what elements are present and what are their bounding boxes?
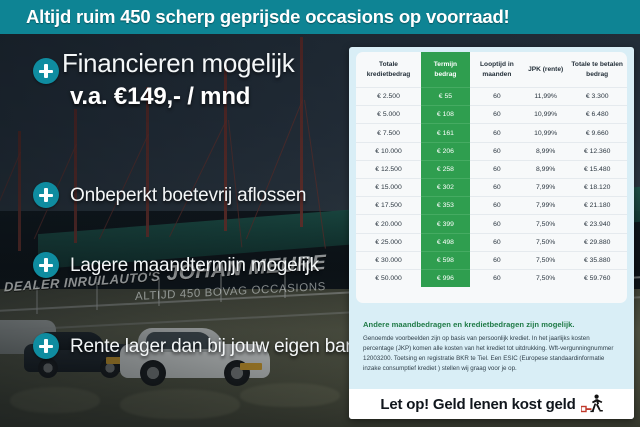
cell-apr: 7,99% <box>524 197 567 215</box>
cell-apr: 7,50% <box>524 269 567 287</box>
cell-apr: 8,99% <box>524 142 567 160</box>
cell-monthly-amount: € 353 <box>421 197 470 215</box>
cell-total-payable: € 29.880 <box>567 233 627 251</box>
cell-monthly-amount: € 598 <box>421 251 470 269</box>
promo-headline: Financieren mogelijk <box>62 48 294 79</box>
cell-apr: 11,99% <box>524 88 567 106</box>
table-header-row: Totale kredietbedrag Termijn bedrag Loop… <box>356 52 627 88</box>
cell-total-payable: € 15.480 <box>567 160 627 178</box>
cell-apr: 10,99% <box>524 106 567 124</box>
cell-duration: 60 <box>470 124 524 142</box>
cell-total-credit: € 20.000 <box>356 215 421 233</box>
table-row: € 20.000€ 399607,50%€ 23.940 <box>356 215 627 233</box>
cell-total-credit: € 10.000 <box>356 142 421 160</box>
banner-creative: DEALER INRUILAUTO'S JOHAN MEURE ALTIJD 4… <box>0 0 640 427</box>
cell-total-credit: € 15.000 <box>356 179 421 197</box>
top-banner: Altijd ruim 450 scherp geprijsde occasio… <box>0 0 640 34</box>
cell-total-payable: € 23.940 <box>567 215 627 233</box>
financing-card: Totale kredietbedrag Termijn bedrag Loop… <box>349 47 634 419</box>
warning-text: Let op! Geld lenen kost geld <box>380 396 575 413</box>
rates-table-body: € 2.500€ 556011,99%€ 3.300€ 5.000€ 10860… <box>356 88 627 288</box>
promo-subheadline: v.a. €149,- / mnd <box>70 83 250 111</box>
cell-monthly-amount: € 206 <box>421 142 470 160</box>
table-row: € 17.500€ 353607,99%€ 21.180 <box>356 197 627 215</box>
card-note-title: Andere maandbedragen en kredietbedragen … <box>363 320 621 329</box>
cell-apr: 7,50% <box>524 233 567 251</box>
promo-bullet-1: Onbeperkt boetevrij aflossen <box>70 185 306 207</box>
cell-duration: 60 <box>470 233 524 251</box>
cell-total-payable: € 12.360 <box>567 142 627 160</box>
cell-duration: 60 <box>470 142 524 160</box>
plus-circle-icon <box>33 333 59 359</box>
table-row: € 10.000€ 206608,99%€ 12.360 <box>356 142 627 160</box>
warning-bar: Let op! Geld lenen kost geld <box>349 389 634 419</box>
cell-total-payable: € 9.660 <box>567 124 627 142</box>
plus-circle-icon <box>33 58 59 84</box>
table-row: € 25.000€ 498607,50%€ 29.880 <box>356 233 627 251</box>
cell-duration: 60 <box>470 215 524 233</box>
cell-total-credit: € 25.000 <box>356 233 421 251</box>
table-row: € 5.000€ 1086010,99%€ 6.480 <box>356 106 627 124</box>
cell-total-payable: € 6.480 <box>567 106 627 124</box>
cell-total-credit: € 2.500 <box>356 88 421 106</box>
rates-table-container: Totale kredietbedrag Termijn bedrag Loop… <box>356 52 627 303</box>
column-header-monthly: Termijn bedrag <box>421 52 470 88</box>
cell-total-credit: € 5.000 <box>356 106 421 124</box>
cell-monthly-amount: € 399 <box>421 215 470 233</box>
card-note-body: Genoemde voorbeelden zijn op basis van p… <box>363 334 622 374</box>
cell-total-credit: € 7.500 <box>356 124 421 142</box>
cell-monthly-amount: € 498 <box>421 233 470 251</box>
table-row: € 2.500€ 556011,99%€ 3.300 <box>356 88 627 106</box>
cell-monthly-amount: € 996 <box>421 269 470 287</box>
cell-monthly-amount: € 258 <box>421 160 470 178</box>
cell-total-credit: € 12.500 <box>356 160 421 178</box>
cell-apr: 7,50% <box>524 215 567 233</box>
plus-circle-icon <box>33 252 59 278</box>
column-header-total-credit: Totale kredietbedrag <box>356 52 421 88</box>
cell-total-credit: € 30.000 <box>356 251 421 269</box>
cell-duration: 60 <box>470 179 524 197</box>
promo-bullet-3: Rente lager dan bij jouw eigen bank <box>70 336 365 358</box>
cell-total-payable: € 21.180 <box>567 197 627 215</box>
cell-apr: 7,50% <box>524 251 567 269</box>
cell-duration: 60 <box>470 160 524 178</box>
cell-monthly-amount: € 161 <box>421 124 470 142</box>
cell-monthly-amount: € 108 <box>421 106 470 124</box>
cell-apr: 7,99% <box>524 179 567 197</box>
cell-duration: 60 <box>470 251 524 269</box>
cell-apr: 10,99% <box>524 124 567 142</box>
cell-duration: 60 <box>470 197 524 215</box>
cell-total-payable: € 3.300 <box>567 88 627 106</box>
top-banner-headline: Altijd ruim 450 scherp geprijsde occasio… <box>0 6 510 28</box>
column-header-total-payable: Totale te betalen bedrag <box>567 52 627 88</box>
cell-duration: 60 <box>470 106 524 124</box>
table-row: € 30.000€ 598607,50%€ 35.880 <box>356 251 627 269</box>
cell-apr: 8,99% <box>524 160 567 178</box>
cell-duration: 60 <box>470 269 524 287</box>
table-row: € 15.000€ 302607,99%€ 18.120 <box>356 179 627 197</box>
cell-total-credit: € 17.500 <box>356 197 421 215</box>
cell-total-payable: € 35.880 <box>567 251 627 269</box>
rates-table: Totale kredietbedrag Termijn bedrag Loop… <box>356 52 627 287</box>
cell-total-payable: € 18.120 <box>567 179 627 197</box>
column-header-duration: Looptijd in maanden <box>470 52 524 88</box>
cell-monthly-amount: € 55 <box>421 88 470 106</box>
table-row: € 7.500€ 1616010,99%€ 9.660 <box>356 124 627 142</box>
running-man-icon <box>581 394 603 414</box>
column-header-apr: JPK (rente) <box>524 52 567 88</box>
table-row: € 12.500€ 258608,99%€ 15.480 <box>356 160 627 178</box>
promo-bullet-2: Lagere maandtermijn mogelijk <box>70 255 319 277</box>
plus-circle-icon <box>33 182 59 208</box>
table-row: € 50.000€ 996607,50%€ 59.760 <box>356 269 627 287</box>
cell-total-payable: € 59.760 <box>567 269 627 287</box>
cell-duration: 60 <box>470 88 524 106</box>
cell-total-credit: € 50.000 <box>356 269 421 287</box>
cell-monthly-amount: € 302 <box>421 179 470 197</box>
